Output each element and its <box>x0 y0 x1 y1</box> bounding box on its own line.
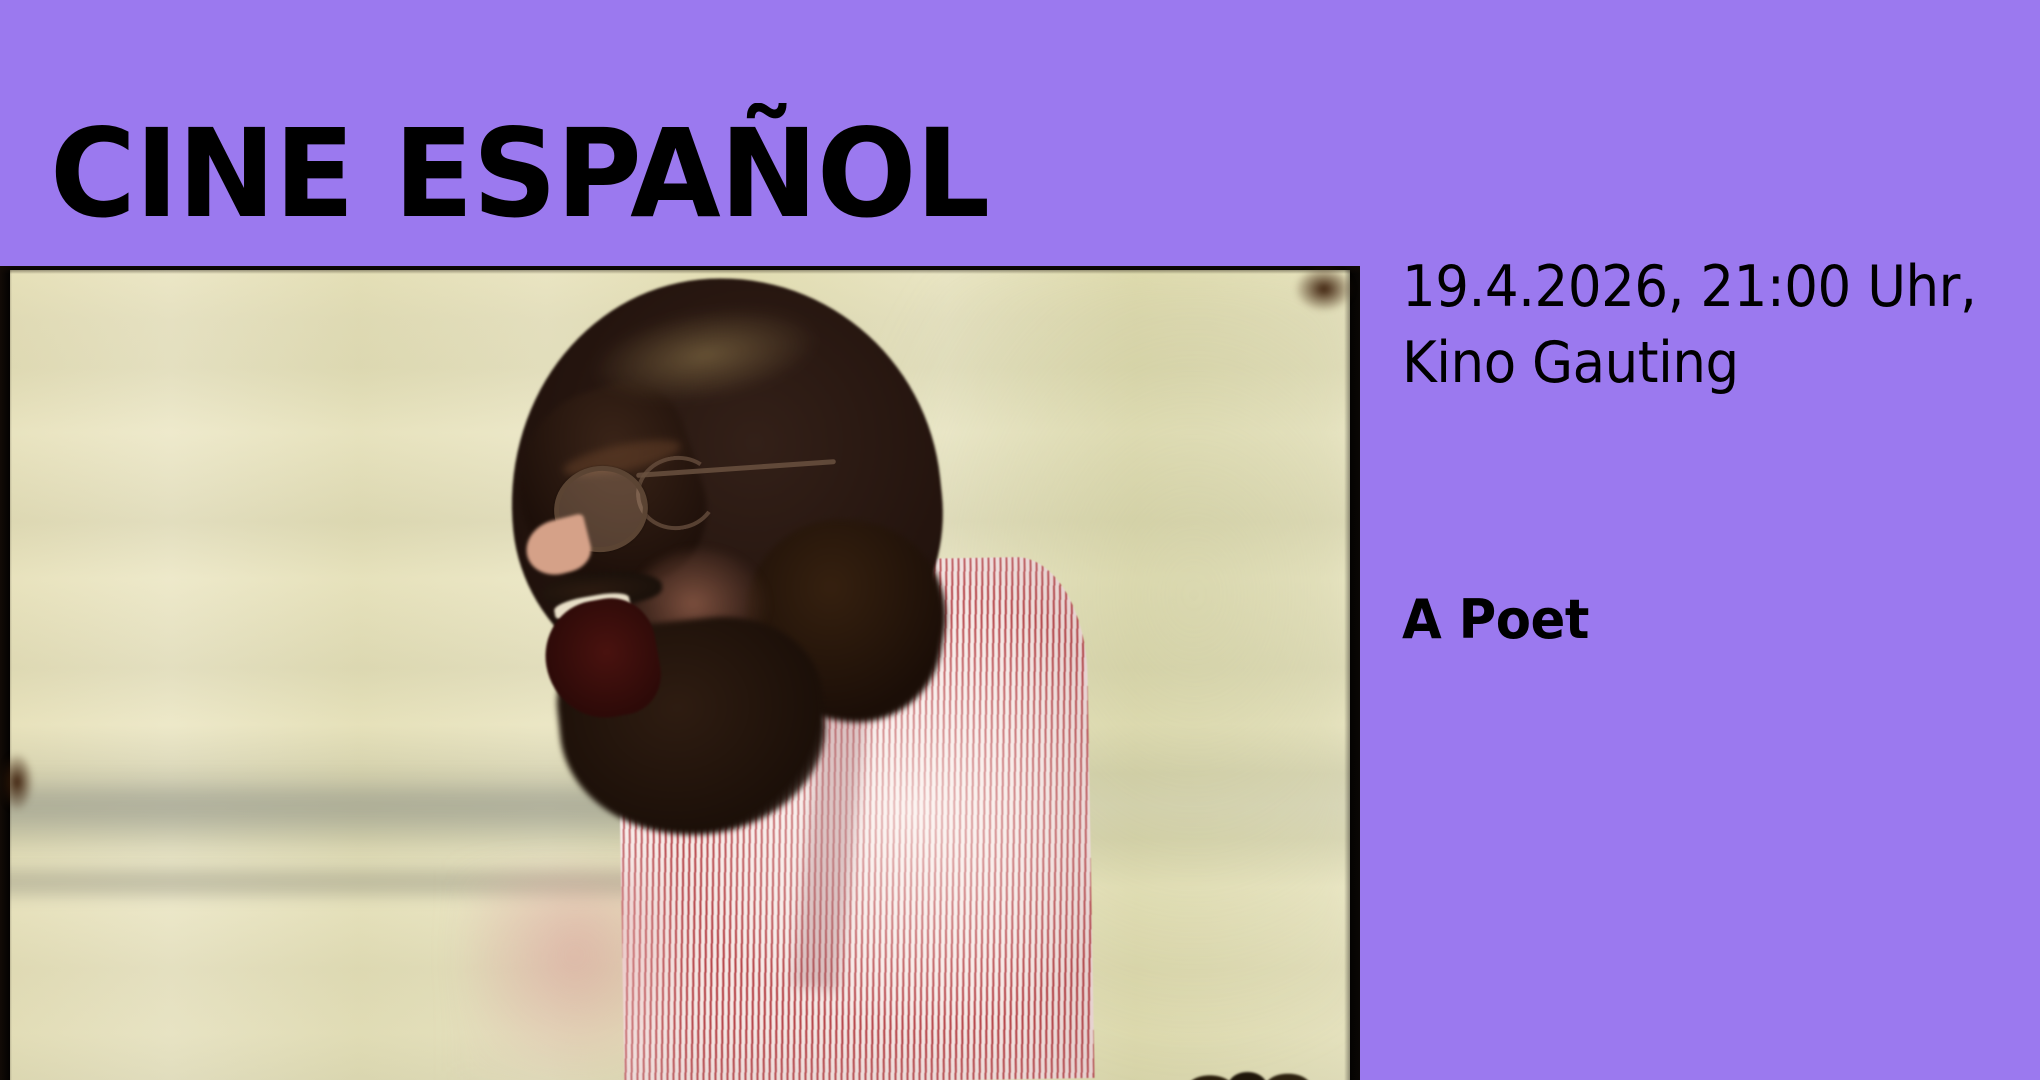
film-title: A Poet <box>1402 588 1589 651</box>
forearm-blur <box>460 870 690 1080</box>
screening-datetime: 19.4.2026, 21:00 Uhr, <box>1402 250 1979 326</box>
film-still-image <box>10 270 1350 1080</box>
cinema-event-poster: CINE ESPAÑOL <box>0 0 2040 1080</box>
photo-burn-mark-top-right <box>1294 266 1354 312</box>
screening-venue: Kino Gauting <box>1402 326 1979 402</box>
screening-info: 19.4.2026, 21:00 Uhr, Kino Gauting <box>1402 250 2022 402</box>
film-still-photo <box>0 266 1360 1080</box>
photo-burn-mark-left <box>0 752 34 812</box>
page-title: CINE ESPAÑOL <box>50 110 989 238</box>
photo-figure-man <box>450 270 1350 1080</box>
vegetation-tuft <box>1180 1026 1330 1080</box>
